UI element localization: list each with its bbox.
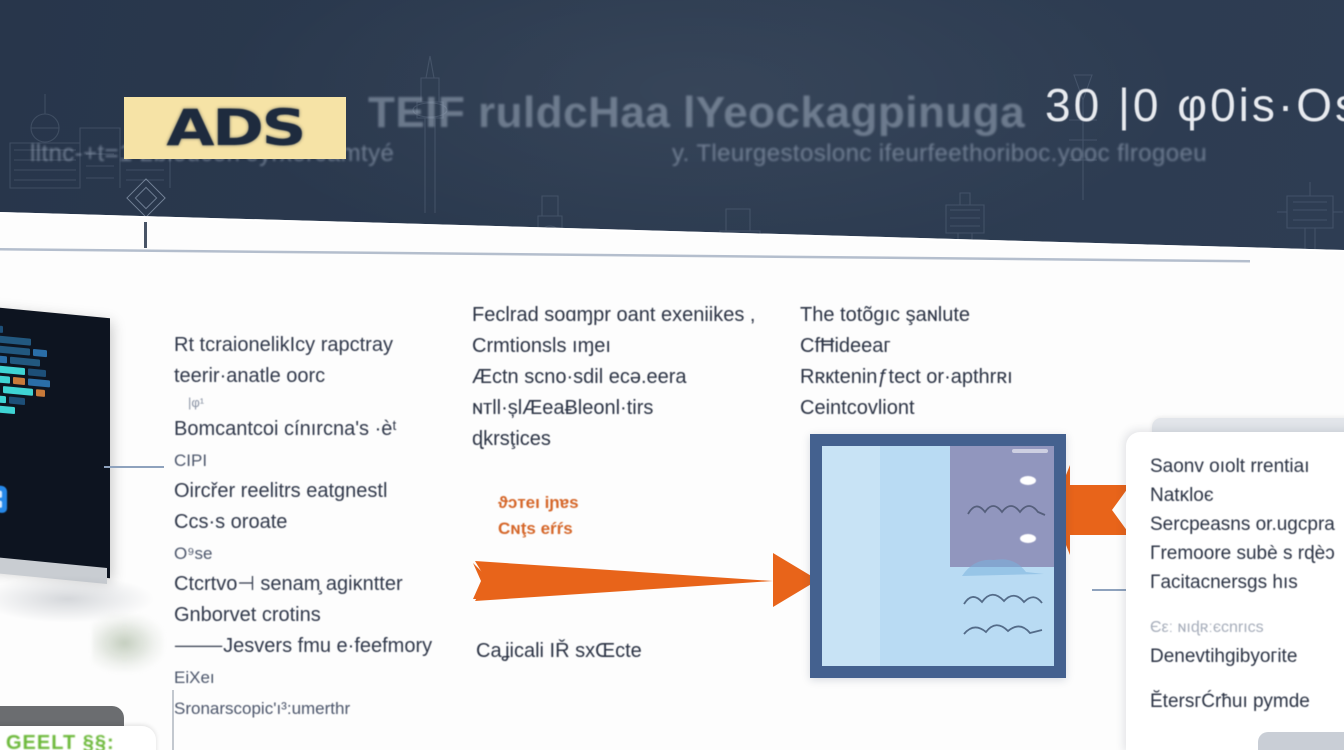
node-stem — [144, 222, 147, 248]
watermark-tower-2 — [520, 185, 580, 295]
header-title-ghost: TEIF ruldcHaa lYeockagpinuga — [368, 88, 1025, 138]
code-chip — [28, 378, 50, 387]
column-right: The totõgıc şaɴluteCfĦideeaгRʀкteninƒtec… — [800, 300, 1090, 424]
column-left: Rt tcraionelikIcy rapctrayteerir·anatle … — [174, 330, 454, 724]
code-display-screen — [0, 302, 110, 579]
text-line-card-6: Denevtihɡibyoгite — [1150, 642, 1344, 671]
text-line-left-6: Ccs·s oroate — [174, 507, 454, 538]
text-line-card-7: ĔtersгĆrħuı руmde — [1150, 687, 1344, 716]
grid-app-icon[interactable] — [0, 484, 7, 514]
slide-canvas: TEIF ruldcHaa lYeockagpinuga lltnc-+t=1 … — [0, 0, 1344, 750]
code-chip — [0, 374, 10, 384]
right-card-footer-strip — [1258, 732, 1344, 750]
code-chip — [0, 355, 7, 364]
text-line-footer-0: Caʝicali IŘ sxŒcte — [476, 640, 642, 663]
process-unit-diagram — [810, 434, 1066, 678]
text-line-card-5: Єεː ɴıɖʀːєcnrıcs — [1150, 613, 1344, 642]
text-line-left-2: |φ¹ — [174, 392, 454, 414]
code-chip — [13, 377, 25, 385]
column-middle-footer: Caʝicali IŘ sxŒcte — [476, 640, 642, 663]
header-edge-shadow — [0, 248, 1250, 288]
text-line-card-0: Saonv oıolt rrentiaı — [1150, 452, 1344, 481]
text-line-left-1: teerir·anatle oorc — [174, 361, 454, 392]
code-chip — [0, 325, 3, 333]
code-chip — [36, 389, 45, 397]
code-chip — [0, 335, 31, 346]
connector-line-left — [104, 466, 164, 468]
input-flow-arrow — [473, 551, 818, 609]
watermark-tower-5 — [1265, 180, 1344, 300]
column-middle: Feclrad soɑɱpr oant exeniikes ,Crmtionsl… — [472, 300, 802, 455]
header-title-highlight: 30 |0 φ0is·Os — [1045, 78, 1344, 132]
code-chip — [3, 386, 33, 396]
text-line-middle-1: Crmtionsls ıɱeı — [472, 331, 802, 362]
indicator-dot-2 — [1020, 534, 1036, 543]
text-line-left-4: CIPI — [174, 445, 454, 476]
squiggle-2 — [962, 586, 1048, 608]
text-line-card-1: Natĸloє — [1150, 481, 1344, 510]
text-line-middle-0: Feclrad soɑɱpr oant exeniikes , — [472, 300, 802, 331]
code-chip — [28, 368, 46, 377]
text-line-left-0: Rt tcraionelikIcy rapctray — [174, 330, 454, 361]
code-chip — [0, 394, 6, 403]
text-line-middle-2: Æctn scno·sdil ecǝ.eera — [472, 362, 802, 393]
squiggle-1 — [966, 498, 1048, 518]
code-chip — [33, 349, 47, 357]
text-line-highlight-1: Cɴţs eŕŕs — [498, 516, 579, 542]
logo-badge[interactable]: ADS — [124, 97, 346, 159]
decorative-smudge — [92, 614, 164, 672]
process-unit-interior — [822, 446, 1054, 666]
text-line-left-9: Gnborvet crotins — [174, 600, 454, 631]
code-chip — [10, 357, 40, 367]
code-chip — [0, 366, 25, 376]
text-line-left-12: Sronarscopic'ı³:umerthr — [174, 693, 454, 724]
code-lines — [0, 310, 110, 426]
text-line-left-10: ⸻Jesvers fmu e·feefmory — [174, 631, 454, 662]
watermark-tower-3 — [700, 200, 780, 300]
bottom-left-card-text: GEELT §§: — [6, 732, 115, 750]
interior-light-column — [822, 446, 880, 666]
text-line-middle-4: ɖkrsţices — [472, 424, 802, 455]
text-line-card-2: Sercpeasns or.ugcpra — [1150, 510, 1344, 539]
interior-top-bar — [1012, 449, 1048, 453]
column-card: Saonv oıolt rrentiaıNatĸloєSercpeasns or… — [1150, 452, 1344, 716]
text-line-right-2: Rʀкteninƒtect or·aрthrʀı — [800, 362, 1090, 393]
squiggle-cloud — [960, 554, 1048, 578]
text-line-left-7: O⁹se — [174, 538, 454, 569]
text-line-middle-3: ɴтll·șlÆeaɃleonl·tirs — [472, 393, 802, 424]
text-line-card-3: Γremоore subè s rɖèɔ — [1150, 539, 1344, 568]
code-chip — [0, 405, 15, 414]
text-line-left-11: EiXeı — [174, 662, 454, 693]
text-line-right-3: Ceintcovliont — [800, 393, 1090, 424]
indicator-dot-1 — [1020, 476, 1036, 485]
text-line-left-5: Oircřer reelitrs eatgnestl — [174, 476, 454, 507]
text-line-right-1: CfĦideeaг — [800, 331, 1090, 362]
watermark-tower-4 — [920, 190, 1010, 300]
squiggle-3 — [962, 616, 1048, 638]
header-subtitle-right: y. Tleurgestoslonc ifeurfeethoriboc.yooc… — [672, 140, 1207, 168]
logo-text: ADS — [166, 99, 304, 157]
column-middle-highlight: ϑɔтeı iɲɐѕCɴţs eŕŕs — [498, 490, 579, 542]
text-line-right-0: The totõgıc şaɴlute — [800, 300, 1090, 331]
text-line-left-8: Ctcrtvo⊣ senam̧ agiĸntter — [174, 569, 454, 600]
code-chip — [9, 397, 25, 406]
text-line-highlight-0: ϑɔтeı iɲɐѕ — [498, 490, 579, 516]
text-line-card-4: Γacitacnersgs hıs — [1150, 568, 1344, 597]
text-line-left-3: Bomcantcoi cínırcna's ·èᵗ — [174, 414, 454, 445]
